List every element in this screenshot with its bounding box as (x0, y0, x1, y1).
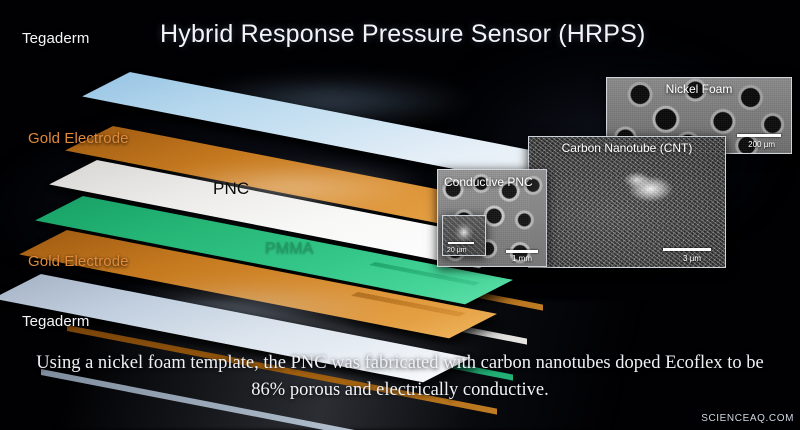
label-pmma: PMMA (265, 240, 313, 258)
watermark: SCIENCEAQ.COM (701, 413, 794, 424)
inset-caption-carbon-nanotube: Carbon Nanotube (CNT) (529, 141, 725, 155)
sub-inset-conductive-pnc[interactable]: 20 µm (442, 215, 486, 256)
scalebar-carbon-nanotube (663, 248, 711, 251)
label-gold-electrode-bottom: Gold Electrode (28, 253, 129, 270)
label-pnc: PNC (213, 179, 249, 199)
scaletext-sub-inset: 20 µm (447, 247, 467, 254)
scalebar-sub-inset (448, 242, 474, 244)
inset-caption-conductive-pnc: Conductive PNC (444, 175, 533, 189)
figure-caption: Using a nickel foam template, the PNC wa… (30, 350, 770, 404)
inset-carbon-nanotube[interactable]: Carbon Nanotube (CNT) 3 µm (528, 136, 726, 268)
scalebar-nickel-foam (737, 134, 781, 137)
scaletext-conductive-pnc: 1 mm (512, 254, 532, 263)
label-gold-electrode-top: Gold Electrode (28, 130, 129, 147)
label-tegaderm-bottom: Tegaderm (22, 313, 90, 330)
figure-canvas: Hybrid Response Pressure Sensor (HRPS) (0, 0, 800, 430)
inset-conductive-pnc[interactable]: Conductive PNC 1 mm 20 µm (437, 169, 547, 267)
scaletext-carbon-nanotube: 3 µm (683, 254, 701, 263)
label-tegaderm-top: Tegaderm (22, 30, 90, 47)
scalebar-conductive-pnc (506, 250, 538, 253)
scaletext-nickel-foam: 200 µm (748, 140, 775, 149)
inset-caption-nickel-foam: Nickel Foam (607, 82, 791, 96)
